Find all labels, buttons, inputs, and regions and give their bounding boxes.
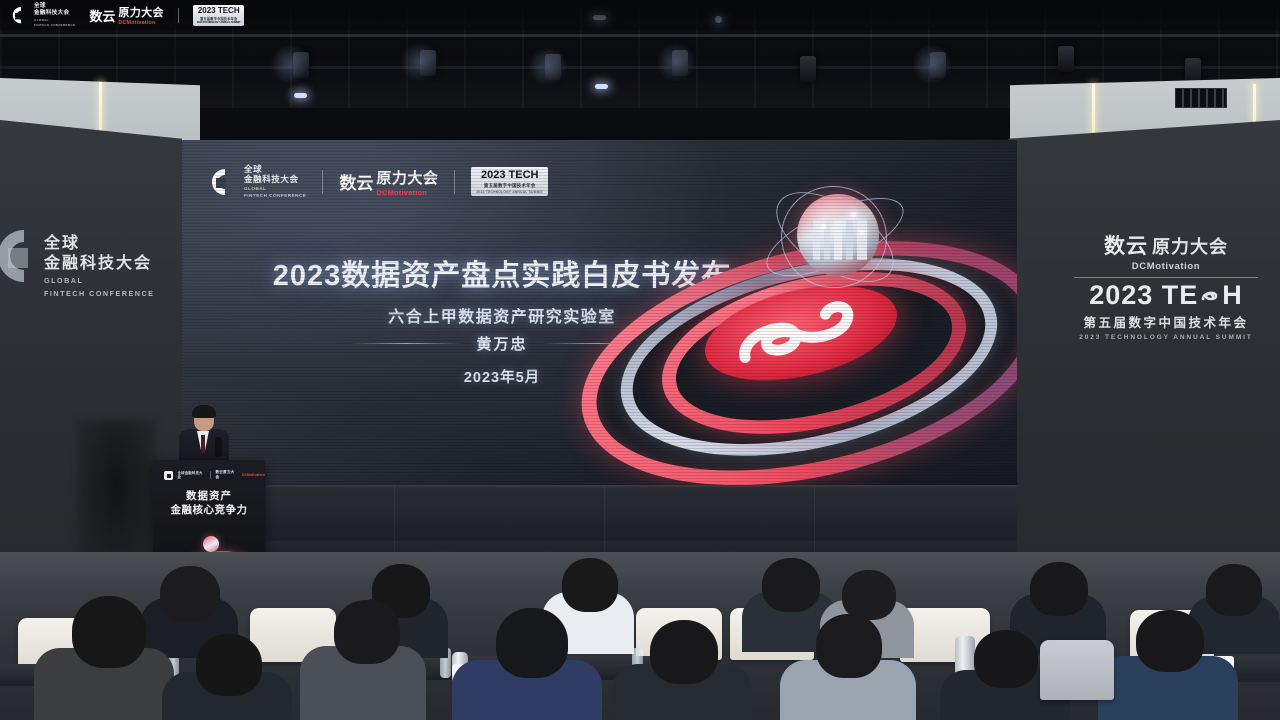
sphere-glint <box>821 224 826 229</box>
light-glow <box>528 46 568 86</box>
right-wall-dcm: DCMotivation <box>1066 261 1266 272</box>
audience-head <box>334 600 400 664</box>
tech-swirl-icon <box>1199 285 1221 307</box>
podium-title: 数据资产 金融核心竞争力 <box>153 490 265 517</box>
left-wall-cn2: 金融科技大会 <box>44 254 154 274</box>
speaker-hair <box>192 405 216 418</box>
main-led-screen: 全球 金融科技大会 GLOBAL FINTECH CONFERENCE 数云 原… <box>182 140 1017 485</box>
audience-area: 中国进出口银行 中信银行 中信银行 <box>0 552 1280 720</box>
truss-beam <box>0 66 1280 69</box>
audience-head <box>762 558 820 612</box>
right-wall-tech-left: 2023 TE <box>1089 282 1198 309</box>
stage-light <box>1185 58 1201 84</box>
led-fintech-en1: GLOBAL <box>244 186 306 192</box>
audience-head <box>1206 564 1262 616</box>
audience-head <box>160 566 220 622</box>
led-yuan: 原力大会 <box>376 167 438 188</box>
watermark-tech-cn: 第五届数字中国技术年会 <box>197 16 241 21</box>
audience-head <box>974 630 1038 688</box>
stage-light <box>1058 46 1074 72</box>
logo-divider <box>454 170 455 194</box>
podium-logo-row: 全球金融科技大会 数云原力大会 DCMotivation <box>164 470 265 480</box>
microphone-icon <box>215 437 222 457</box>
left-wall-en2: FINTECH CONFERENCE <box>44 289 154 299</box>
led-artwork <box>507 158 1017 478</box>
led-logo-bar: 全球 金融科技大会 GLOBAL FINTECH CONFERENCE 数云 原… <box>208 164 548 199</box>
light-glow <box>912 44 952 84</box>
light-glow <box>270 44 310 84</box>
watermark-divider <box>178 8 179 23</box>
right-wall-sign: 数云 原力大会 DCMotivation 2023 TE H 第五届数字中国技术… <box>1066 230 1266 341</box>
led-fintech-en2: FINTECH CONFERENCE <box>244 193 306 199</box>
audience-head <box>72 596 146 668</box>
fintech-circle-logo-icon <box>164 471 173 480</box>
light-beam <box>595 84 608 89</box>
led-dcm-en: DCMotivation <box>376 188 438 197</box>
watermark-tech-year: 2023 TECH <box>197 7 241 15</box>
speaker-tie <box>201 435 205 453</box>
podium-line1: 数据资产 <box>153 490 265 504</box>
right-wall-tech-right: H <box>1222 282 1243 309</box>
watermark-dcm-logo: 数云 原力大会 DCMotivation <box>89 4 164 26</box>
light-glow <box>400 42 440 82</box>
right-wall-divider <box>1074 277 1258 278</box>
right-wall-en2: 2023 TECHNOLOGY ANNUAL SUMMIT <box>1066 334 1266 341</box>
audience-head <box>842 570 896 620</box>
right-wall-shu: 数云 <box>1104 230 1148 260</box>
audience-head <box>1030 562 1088 616</box>
led-shu: 数云 <box>339 169 373 194</box>
audience-head <box>650 620 718 684</box>
led-fintech-logo: 全球 金融科技大会 GLOBAL FINTECH CONFERENCE <box>208 164 306 199</box>
right-wall-yuan: 原力大会 <box>1152 233 1228 259</box>
fintech-circle-logo-icon <box>0 226 48 298</box>
stage-seam <box>182 485 1017 487</box>
conference-photo-scene: 全球 金融科技大会 GLOBAL FINTECH CONFERENCE 数云 原… <box>0 0 1280 720</box>
truss-beam <box>0 34 1280 37</box>
broadcast-watermark-bar: 全球 金融科技大会 GLOBAL FINTECH CONFERENCE 数云 原… <box>0 0 1280 30</box>
podium-fintech-text: 全球金融科技大会 <box>178 471 205 480</box>
watermark-tech-badge: 2023 TECH 第五届数字中国技术年会 2023 TECHNOLOGY AN… <box>193 5 245 26</box>
audience-head <box>562 558 618 612</box>
audience-head <box>1136 610 1204 672</box>
led-dcm-logo: 数云 原力大会 DCMotivation <box>339 167 438 197</box>
watermark-cn2: 金融科技大会 <box>34 10 75 17</box>
watermark-en2: FINTECH CONFERENCE <box>34 23 75 27</box>
light-beam <box>294 93 307 98</box>
right-wall-cn2: 第五届数字中国技术年会 <box>1066 312 1266 331</box>
sphere-glint <box>859 230 864 235</box>
podium-sphere <box>203 536 219 552</box>
wall-vent <box>1175 88 1227 108</box>
eyeglasses <box>88 640 134 646</box>
led-fintech-cn1: 全球 <box>244 164 306 174</box>
light-glow <box>656 42 696 82</box>
left-wall-cn1: 全球 <box>44 234 154 254</box>
audience-head <box>496 608 568 678</box>
globe-sphere <box>797 194 879 276</box>
podium-dcm-text: DCMotivation <box>242 473 265 477</box>
chair <box>1040 640 1114 700</box>
watermark-dcm-en: DCMotivation <box>118 20 164 26</box>
podium-shu-text: 数云原力大会 <box>215 470 237 480</box>
stage-light <box>800 56 816 82</box>
fintech-circle-logo-icon <box>208 167 238 197</box>
watermark-tech-en: 2023 TECHNOLOGY ANNUAL SUMMIT <box>197 21 241 24</box>
fintech-circle-logo-icon <box>10 6 29 25</box>
right-wall-tech: 2023 TE H <box>1066 282 1266 309</box>
sphere-glint <box>851 212 856 217</box>
watermark-shu: 数云 <box>89 6 115 25</box>
podium-logo-divider <box>210 471 211 479</box>
podium-line2: 金融核心竞争力 <box>153 504 265 518</box>
orbiting-sphere-group <box>759 166 909 306</box>
logo-divider <box>322 170 323 194</box>
watermark-fintech-logo: 全球 金融科技大会 GLOBAL FINTECH CONFERENCE <box>10 3 75 27</box>
watermark-yuan: 原力大会 <box>118 4 164 20</box>
decor-rule-left <box>350 343 462 345</box>
side-wall-right <box>1008 120 1280 590</box>
audience-head <box>816 614 882 678</box>
left-wall-en1: GLOBAL <box>44 276 154 286</box>
watermark-cn1: 全球 <box>34 3 75 10</box>
led-fintech-cn2: 金融科技大会 <box>244 174 306 184</box>
watermark-en1: GLOBAL <box>34 18 75 22</box>
